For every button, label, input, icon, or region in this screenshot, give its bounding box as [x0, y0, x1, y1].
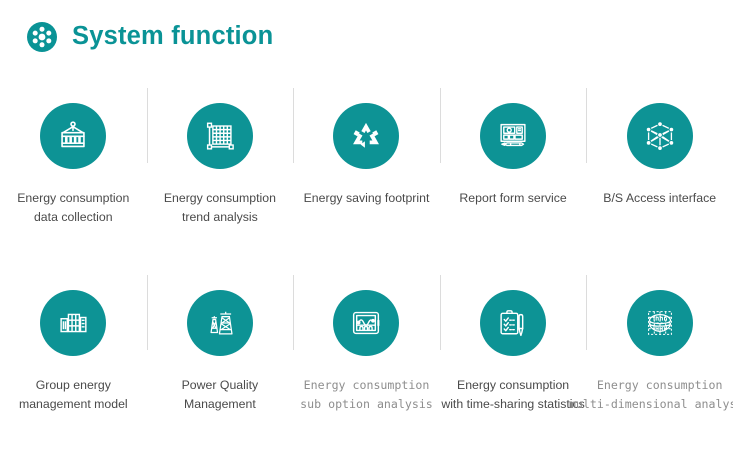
page-header: System function [0, 0, 733, 60]
caption-line-2: with time-sharing statistics [441, 395, 585, 414]
grid-chart-axes-icon [201, 117, 239, 155]
power-tower-icon [201, 304, 239, 342]
clipboard-checklist-pen-icon [494, 304, 532, 342]
feature-cell-bs-access-interface[interactable]: B/S Access interface [586, 78, 733, 265]
feature-grid: Energy consumption data collection [0, 78, 733, 452]
feature-caption: Energy consumption multi-dimensional ana… [569, 376, 733, 414]
feature-caption: Energy saving footprint [304, 189, 430, 208]
feature-caption: Energy consumption trend analysis [164, 189, 276, 227]
feature-cell-energy-saving-footprint[interactable]: Energy saving footprint [293, 78, 440, 265]
feature-cell-energy-consumption-multi-dimensional-analysis[interactable]: Energy consumption multi-dimensional ana… [586, 265, 733, 452]
settings-flower-icon [26, 21, 58, 53]
caption-line-1: Energy consumption [17, 189, 129, 208]
feature-caption: Energy consumption with time-sharing sta… [441, 376, 585, 414]
feature-caption: Power Quality Management [182, 376, 259, 414]
caption-line-1: Energy consumption [441, 376, 585, 395]
caption-line-1: Energy saving footprint [304, 189, 430, 208]
caption-line-1: B/S Access interface [603, 189, 716, 208]
badge-power-tower [187, 290, 253, 356]
feature-caption: Group energy management model [19, 376, 128, 414]
feature-cell-energy-consumption-trend-analysis[interactable]: Energy consumption trend analysis [147, 78, 294, 265]
feature-cell-power-quality-management[interactable]: Power Quality Management [147, 265, 294, 452]
caption-line-2: trend analysis [164, 208, 276, 227]
caption-line-2: sub option analysis [300, 395, 433, 414]
feature-cell-energy-consumption-with-time-sharing-statistics[interactable]: Energy consumption with time-sharing sta… [440, 265, 587, 452]
buildings-icon [54, 304, 92, 342]
caption-line-1: Power Quality [182, 376, 259, 395]
feature-caption: Energy consumption data collection [17, 189, 129, 227]
badge-shipping-container [40, 103, 106, 169]
badge-tablet-wave-chart [333, 290, 399, 356]
caption-line-1: Report form service [459, 189, 566, 208]
caption-line-1: Energy consumption [300, 376, 433, 395]
caption-line-2: Management [182, 395, 259, 414]
feature-caption: Report form service [459, 189, 566, 208]
badge-report-document-pen [480, 103, 546, 169]
recycle-icon [348, 118, 384, 154]
feature-row-2: Group energy management model [0, 265, 733, 452]
feature-caption: B/S Access interface [603, 189, 716, 208]
feature-cell-energy-consumption-sub-option-analysis[interactable]: Energy consumption sub option analysis [293, 265, 440, 452]
report-document-pen-icon [494, 117, 532, 155]
caption-line-1: Energy consumption [569, 376, 733, 395]
caption-line-1: Group energy [19, 376, 128, 395]
caption-line-2: multi-dimensional analysis [569, 395, 733, 414]
cube-network-icon [641, 117, 679, 155]
feature-row-1: Energy consumption data collection [0, 78, 733, 265]
badge-cube-network [627, 103, 693, 169]
badge-grid-chart-axes [187, 103, 253, 169]
badge-buildings [40, 290, 106, 356]
page-title: System function [72, 24, 273, 50]
feature-cell-report-form-service[interactable]: Report form service [440, 78, 587, 265]
feature-cell-energy-consumption-data-collection[interactable]: Energy consumption data collection [0, 78, 147, 265]
badge-clipboard-checklist-pen [480, 290, 546, 356]
shipping-container-icon [54, 117, 92, 155]
badge-recycle [333, 103, 399, 169]
feature-caption: Energy consumption sub option analysis [300, 376, 433, 414]
tablet-wave-chart-icon [347, 304, 385, 342]
multi-dimensional-cube-icon [641, 304, 679, 342]
caption-line-1: Energy consumption [164, 189, 276, 208]
caption-line-2: management model [19, 395, 128, 414]
caption-line-2: data collection [17, 208, 129, 227]
feature-cell-group-energy-management-model[interactable]: Group energy management model [0, 265, 147, 452]
badge-multi-dimensional-cube [627, 290, 693, 356]
